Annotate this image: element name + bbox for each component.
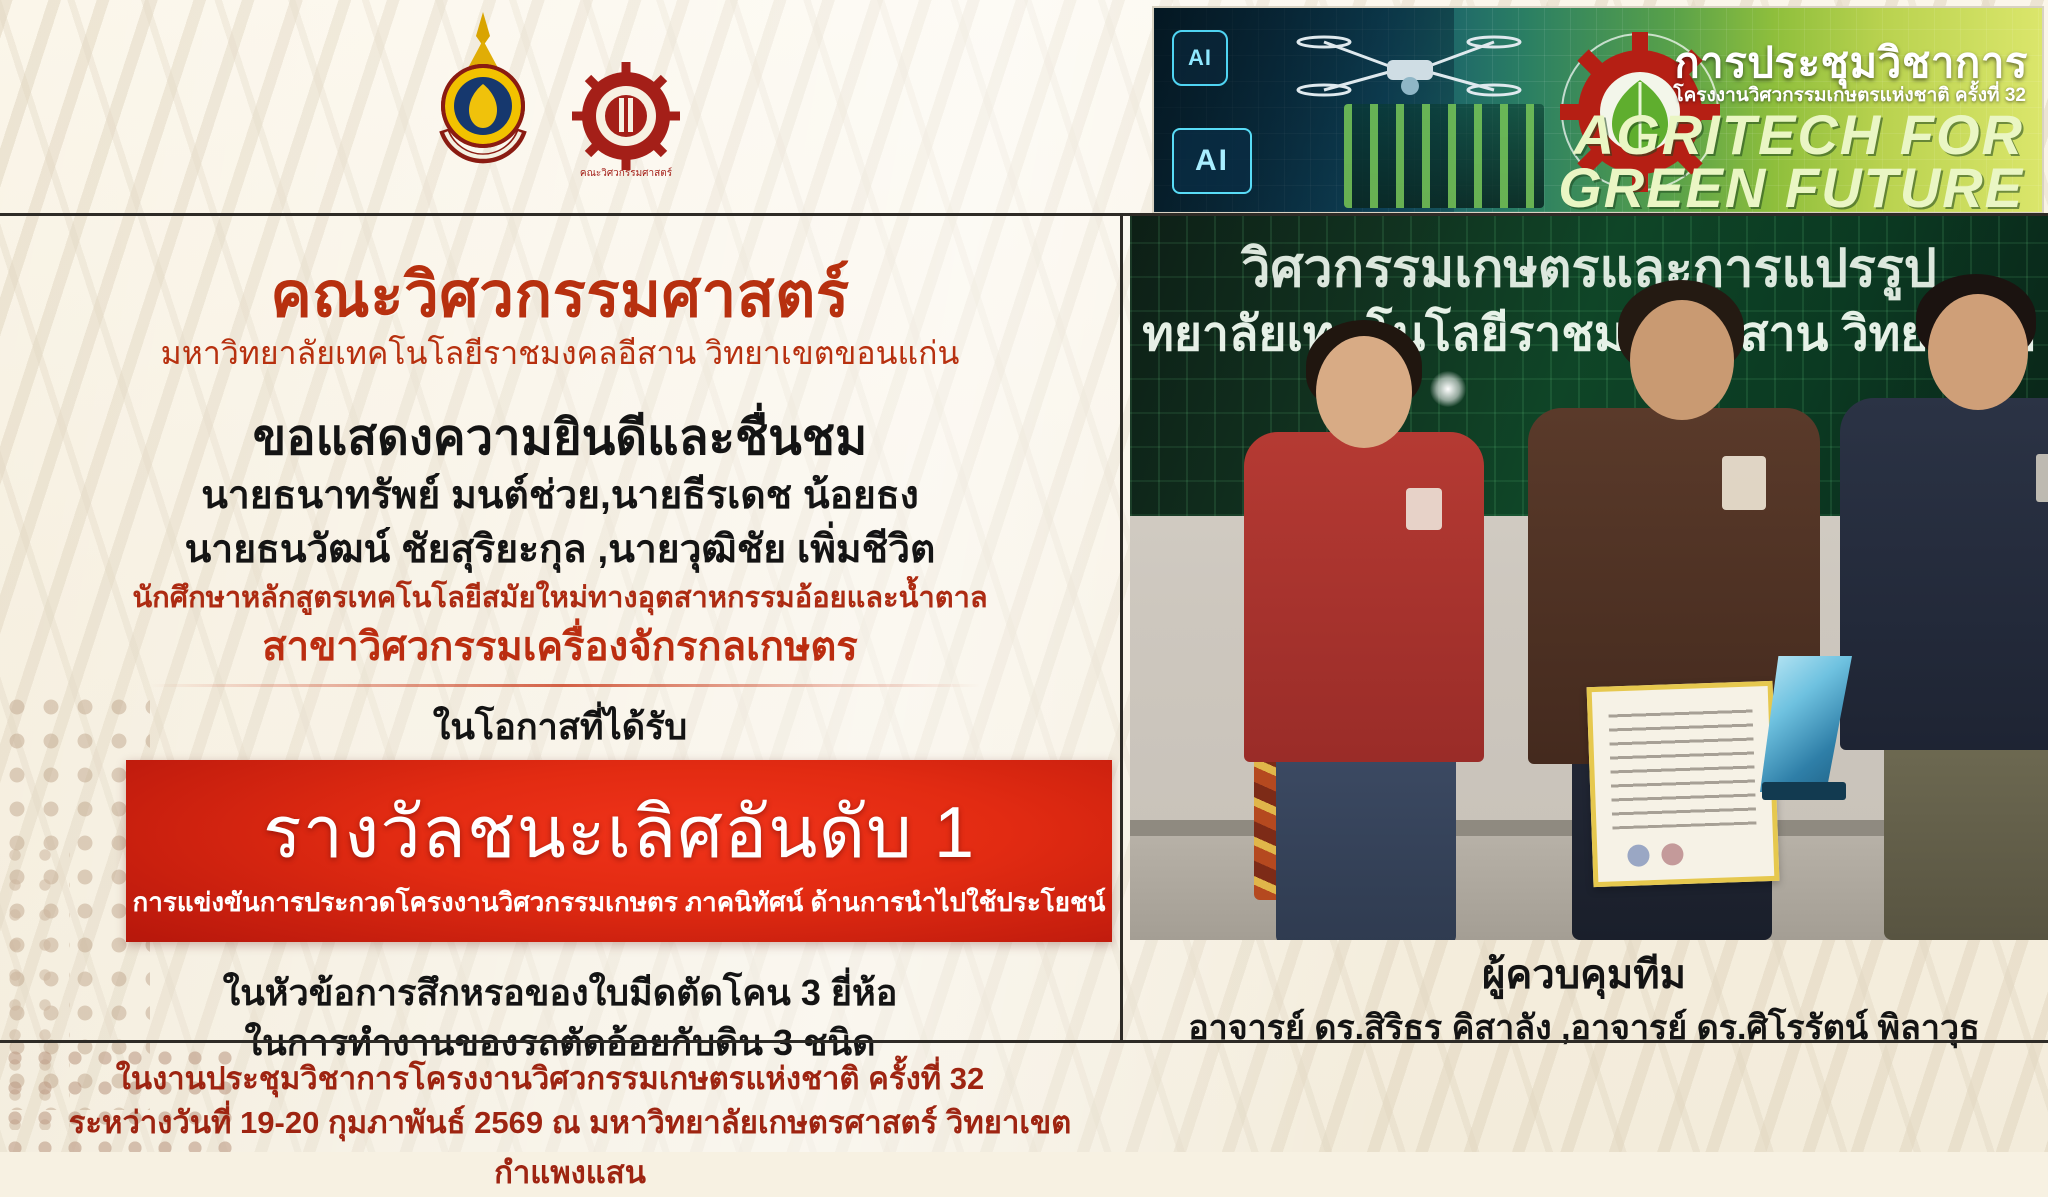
person1-legs <box>1276 748 1456 940</box>
person3-trousers <box>1884 734 2048 940</box>
student-person-left <box>1210 312 1510 940</box>
poster-footer: ในงานประชุมวิชาการโครงงานวิศวกรรมเกษตรแห… <box>0 1043 2048 1152</box>
slogan-line-1: AGRITECH FOR <box>1558 108 2024 161</box>
certificate-seal-right <box>1661 843 1684 866</box>
person2-shirt-emblem <box>1722 456 1766 510</box>
poster-header: คณะวิศวกรรมศาสตร์ AI AI <box>0 0 2048 216</box>
right-content-column: วิศวกรรมเกษตรและการแปรรูป ทยาลัยเทคโนโลย… <box>1120 216 2048 1040</box>
award-ceremony-photo: วิศวกรรมเกษตรและการแปรรูป ทยาลัยเทคโนโลย… <box>1130 216 2048 940</box>
ai-panel-icon: AI <box>1172 128 1252 194</box>
certificate-text-lines <box>1608 705 1756 830</box>
student-names-line-1: นายธนาทรัพย์ มนต์ช่วย,นายธีรเดช น้อยธง <box>0 464 1120 526</box>
advisor-section-title: ผู้ควบคุมทีม <box>1120 942 2048 1006</box>
conference-slogan: AGRITECH FOR GREEN FUTURE <box>1558 108 2024 214</box>
svg-text:คณะวิศวกรรมศาสตร์: คณะวิศวกรรมศาสตร์ <box>580 167 673 179</box>
person3-suit-jacket <box>1840 398 2048 750</box>
section-divider <box>150 684 980 687</box>
congratulation-poster: คณะวิศวกรรมศาสตร์ AI AI <box>0 0 2048 1152</box>
certificate-document <box>1587 681 1780 887</box>
occasion-text: ในโอกาสที่ได้รับ <box>0 698 1120 755</box>
presenter-person-right <box>1830 272 2048 940</box>
topic-line-1: ในหัวข้อการสึกหรอของใบมีดตัดโคน 3 ยี่ห้อ <box>0 964 1120 1021</box>
person1-chest-patch <box>1406 488 1442 530</box>
footer-line-2: ระหว่างวันที่ 19-20 กุมภาพันธ์ 2569 ณ มห… <box>0 1097 1140 1197</box>
left-content-column: คณะวิศวกรรมศาสตร์ มหาวิทยาลัยเทคโนโลยีรา… <box>0 216 1120 1040</box>
person3-face <box>1928 294 2028 410</box>
certificate-seal-left <box>1627 844 1650 867</box>
footer-line-1: ในงานประชุมวิชาการโครงงานวิศวกรรมเกษตรแห… <box>0 1053 1100 1103</box>
person2-face <box>1630 300 1734 420</box>
person1-face <box>1316 336 1412 448</box>
student-names-line-2: นายธนวัฒน์ ชัยสุริยะกุล ,นายวุฒิชัย เพิ่… <box>0 518 1120 580</box>
logo-group: คณะวิศวกรรมศาสตร์ <box>430 10 688 206</box>
drone-icon <box>1294 20 1524 116</box>
award-title: รางวัลชนะเลิศอันดับ 1 <box>126 774 1112 889</box>
vertical-farm-icon <box>1344 104 1544 208</box>
trophy-base <box>1762 782 1846 800</box>
university-subtitle: มหาวิทยาลัยเทคโนโลยีราชมงคลอีสาน วิทยาเข… <box>0 328 1120 379</box>
slogan-line-2: GREEN FUTURE <box>1558 161 2024 214</box>
conference-banner: AI AI <box>1152 6 2044 214</box>
award-subtitle: การแข่งขันการประกวดโครงงานวิศวกรรมเกษตร … <box>126 882 1112 923</box>
rmuti-crest-logo <box>430 10 536 206</box>
person1-red-polo <box>1244 432 1484 762</box>
faculty-of-engineering-logo: คณะวิศวกรรมศาสตร์ <box>564 58 688 182</box>
major-name: สาขาวิศวกรรมเครื่องจักรกลเกษตร <box>0 614 1120 678</box>
ai-chip-icon: AI <box>1172 30 1228 86</box>
person3-name-badge <box>2036 454 2048 502</box>
award-banner: รางวัลชนะเลิศอันดับ 1 การแข่งขันการประกว… <box>126 760 1112 942</box>
